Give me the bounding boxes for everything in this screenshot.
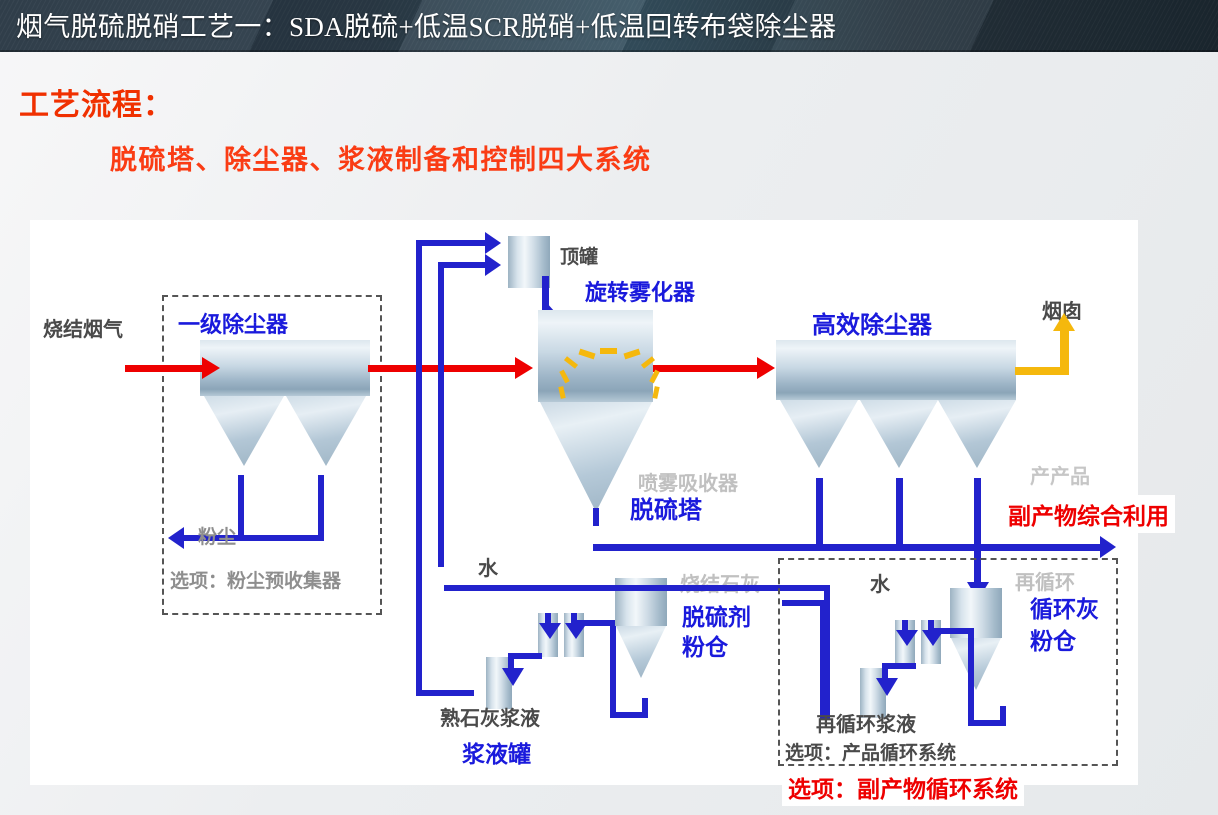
dust-label: 粉尘	[198, 522, 236, 549]
tower-outlet-vert	[593, 508, 599, 526]
recycle-ash-silo-label-2: 粉仓	[1030, 622, 1076, 656]
collection-header-line	[593, 544, 1103, 551]
slurry-drop-arrow-1	[539, 623, 561, 639]
inlet-label: 烧结烟气	[43, 313, 123, 342]
product-recycle-option-label: 选项：产品循环系统	[785, 738, 956, 765]
spray-dash-9	[652, 386, 659, 399]
desulfur-tower-body	[538, 310, 653, 402]
chimney-vert-line	[1060, 330, 1069, 375]
riser-line-1	[416, 240, 422, 695]
heh-leg-2	[896, 478, 903, 548]
water-label-right: 水	[870, 568, 890, 597]
chimney-arrow-head	[1053, 313, 1075, 331]
recycle-out-elbow	[1000, 706, 1006, 726]
dust-leg-2	[318, 475, 324, 541]
slurry-out-elbow	[642, 698, 648, 718]
riser-line-2	[438, 262, 444, 567]
top-tank-feed-arrow-2	[485, 254, 501, 276]
gas-arrow-1	[202, 357, 220, 379]
dust-leg-1	[238, 475, 244, 541]
heh-leg-1	[816, 478, 823, 548]
rotary-atomizer-label: 旋转雾化器	[585, 275, 695, 307]
gas-arrow-2	[515, 357, 533, 379]
sintered-lime-faded-label: 烧结石灰	[680, 568, 760, 597]
page-title: 烟气脱硫脱硝工艺一：SDA脱硫+低温SCR脱硝+低温回转布袋除尘器	[16, 5, 836, 44]
byproduct-recycle-option-label: 选项：副产物循环系统	[782, 768, 1024, 806]
slurry-tank-label: 浆液罐	[462, 735, 531, 769]
recycle-drop-arrow-1	[896, 630, 918, 646]
riser-1-foot	[416, 690, 474, 696]
water-label-left: 水	[478, 552, 498, 581]
slurry-out-vert	[610, 620, 616, 718]
process-flow-diagram: 烧结烟气 一级除尘器 粉尘 选项：粉尘预收集器 顶罐 旋转	[30, 220, 1138, 785]
process-heading: 工艺流程：	[19, 80, 174, 124]
slaked-lime-slurry-label: 熟石灰浆液	[440, 702, 540, 731]
recycle-out-vert	[968, 628, 974, 726]
recycle-water-vert	[820, 600, 826, 720]
slide-root: 烟气脱硫脱硝工艺一：SDA脱硫+低温SCR脱硝+低温回转布袋除尘器 工艺流程： …	[0, 0, 1218, 815]
byproduct-use-label: 副产物综合利用	[1002, 495, 1175, 533]
product-outlet-faded-label: 产产品	[1030, 460, 1090, 489]
primary-collector-label: 一级除尘器	[178, 307, 288, 339]
heh-leg-3	[974, 478, 981, 548]
top-tank-feed-line-1	[416, 240, 488, 246]
gas-line-tower-to-collector	[650, 365, 760, 372]
recycle-slurry-label: 再循环浆液	[816, 708, 916, 737]
high-eff-hopper-3	[938, 400, 1016, 468]
process-subheading: 脱硫塔、除尘器、浆液制备和控制四大系统	[110, 138, 652, 177]
recycle-ash-silo-label-1: 循环灰	[1030, 590, 1099, 624]
desulfurizer-silo-cone	[616, 626, 666, 678]
gas-line-inlet	[125, 365, 205, 372]
high-eff-collector-label: 高效除尘器	[812, 305, 932, 340]
dust-arrow-head	[168, 527, 184, 549]
slide-header-bar: 烟气脱硫脱硝工艺一：SDA脱硫+低温SCR脱硝+低温回转布袋除尘器	[0, 0, 1218, 52]
top-tank-feed-line-2	[438, 262, 488, 268]
spray-dash-1	[600, 348, 617, 354]
primary-collector-body	[200, 340, 370, 396]
recycle-elbow-arrow	[876, 678, 898, 696]
dust-precollector-option-label: 选项：粉尘预收集器	[170, 566, 341, 593]
top-tank-label: 顶罐	[560, 242, 598, 269]
slurry-elbow-arrow	[502, 668, 524, 686]
high-eff-collector-body	[776, 340, 1016, 400]
desulfur-tower-label: 脱硫塔	[630, 490, 702, 525]
desulfurizer-silo-label-1: 脱硫剂	[682, 598, 751, 632]
high-eff-hopper-1	[780, 400, 858, 468]
gas-arrow-3	[757, 357, 775, 379]
top-tank-feed-arrow-1	[485, 232, 501, 254]
collection-header-arrow	[1100, 536, 1116, 558]
desulfurizer-silo-label-2: 粉仓	[682, 628, 728, 662]
high-eff-hopper-2	[860, 400, 938, 468]
